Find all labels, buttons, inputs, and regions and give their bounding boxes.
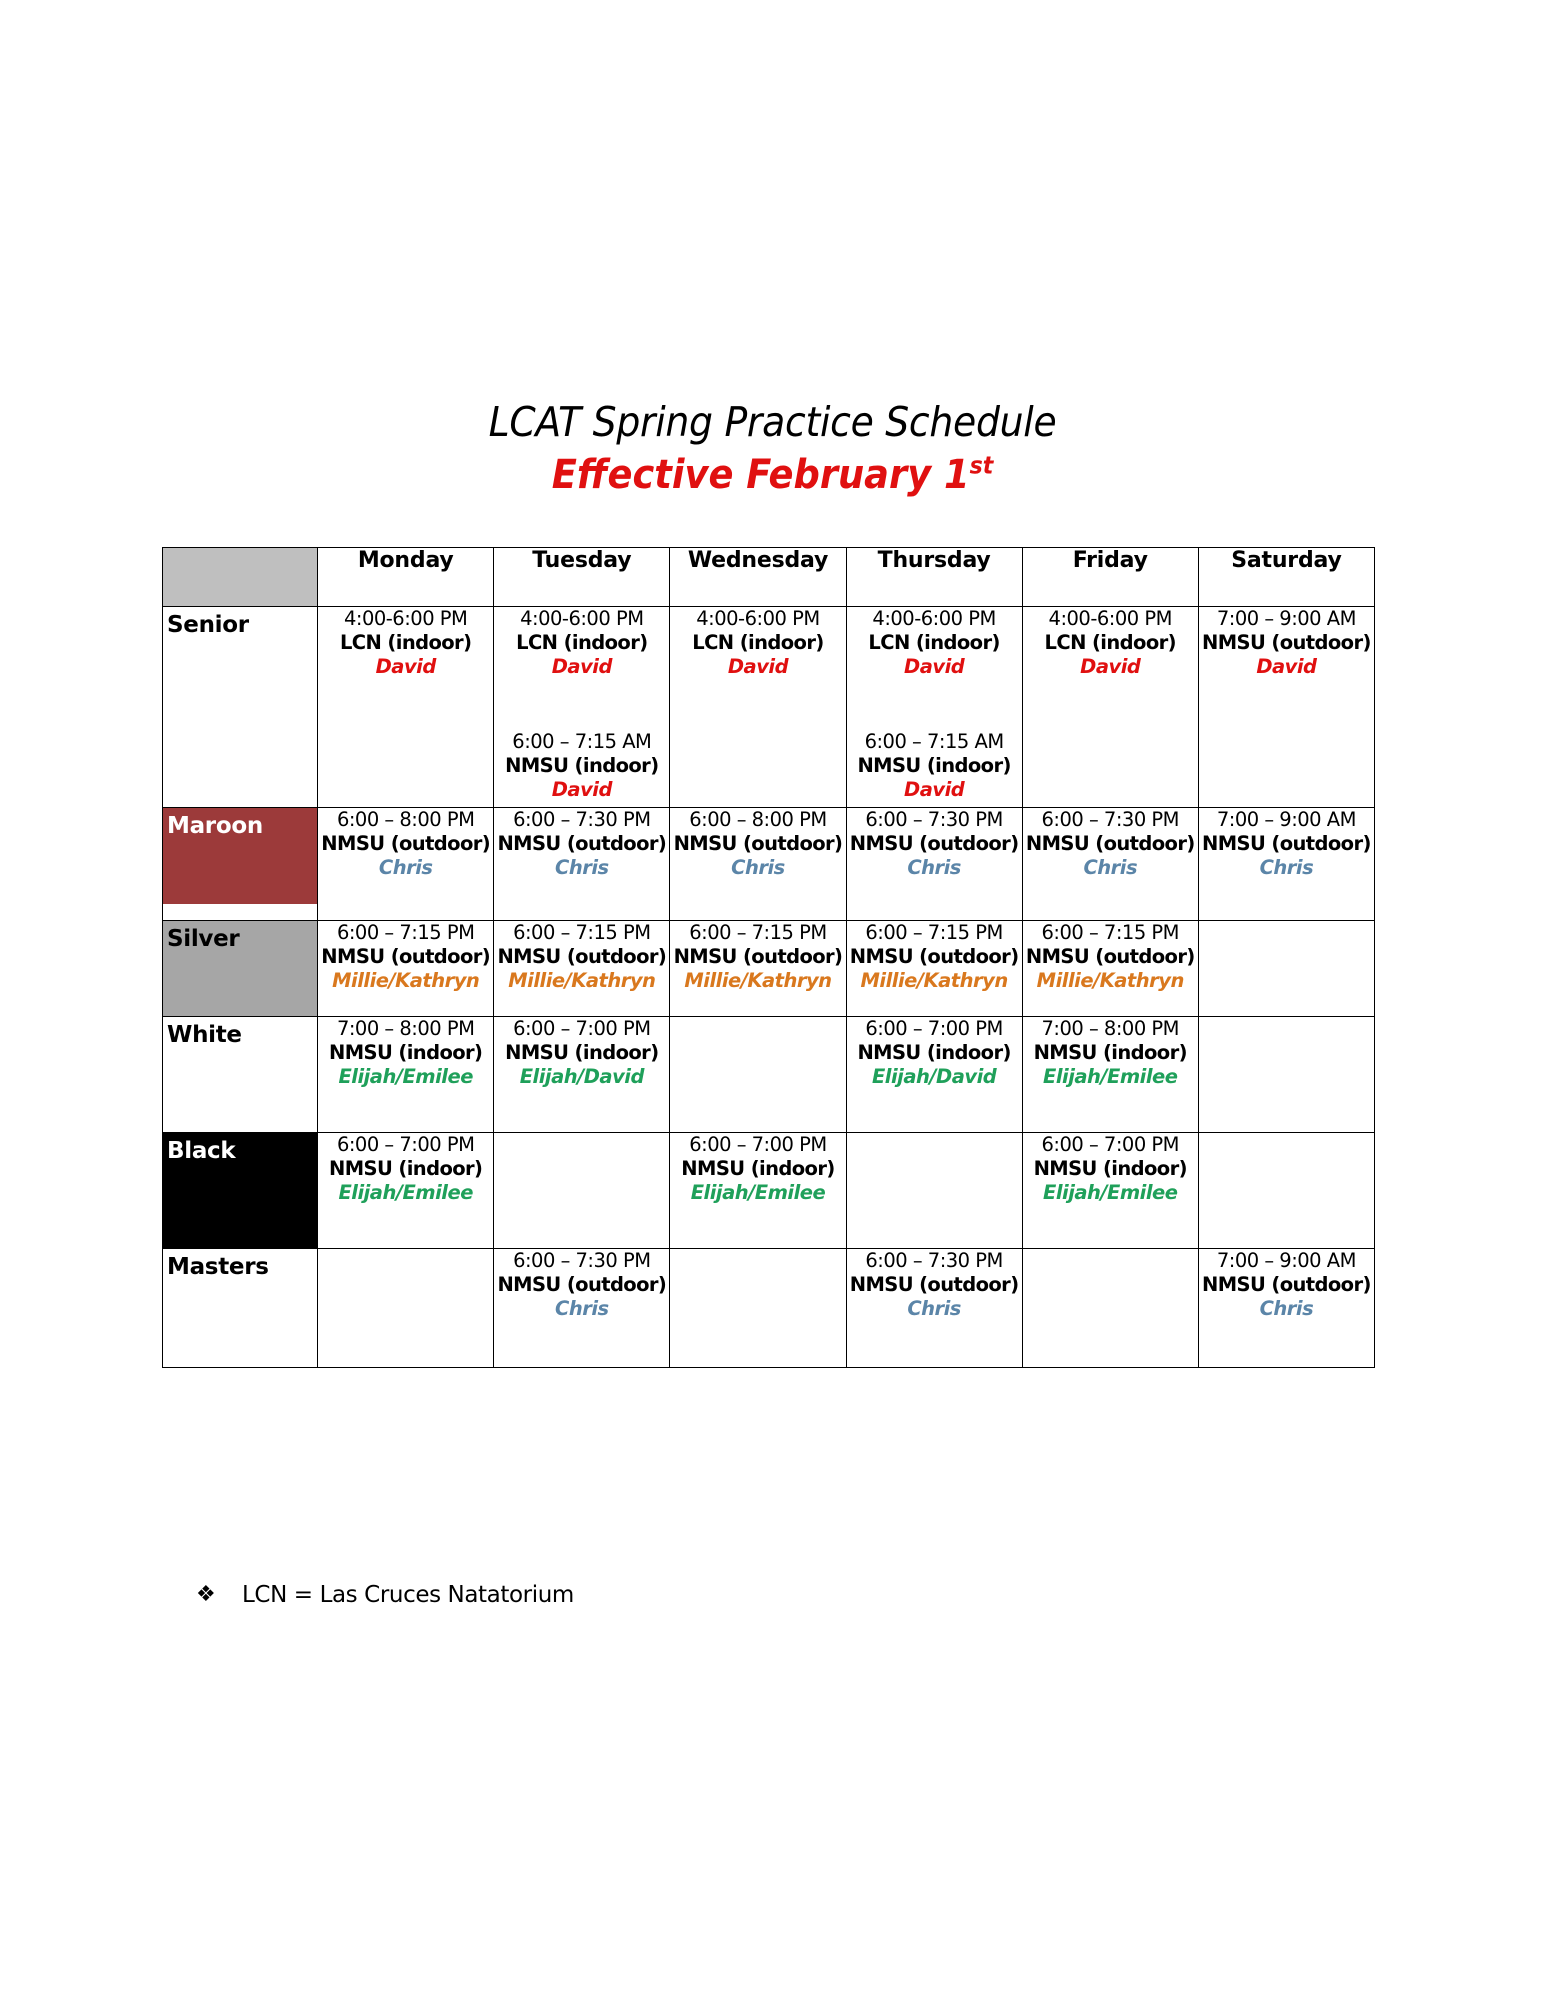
session-coach: Chris	[494, 1297, 669, 1321]
session-time: 6:00 – 7:15 PM	[670, 921, 845, 945]
session-time: 6:00 – 8:00 PM	[670, 808, 845, 832]
session-time: 4:00-6:00 PM	[1023, 607, 1198, 631]
session-coach: David	[494, 655, 669, 679]
group-name: Black	[163, 1133, 317, 1164]
schedule-cell: 4:00-6:00 PMLCN (indoor)David	[670, 607, 846, 808]
practice-session: 6:00 – 7:15 PMNMSU (outdoor)Millie/Kathr…	[318, 921, 493, 992]
practice-session: 6:00 – 7:00 PMNMSU (indoor)Elijah/Emilee	[670, 1133, 845, 1204]
session-coach: David	[494, 778, 669, 802]
schedule-cell: 6:00 – 8:00 PMNMSU (outdoor)Chris	[318, 808, 494, 921]
column-header-monday: Monday	[318, 548, 494, 607]
session-time: 6:00 – 7:30 PM	[494, 808, 669, 832]
schedule-cell: 6:00 – 7:15 PMNMSU (outdoor)Millie/Kathr…	[1022, 921, 1198, 1017]
row-label-masters: Masters	[163, 1249, 318, 1368]
session-time: 4:00-6:00 PM	[670, 607, 845, 631]
schedule-cell: 4:00-6:00 PMLCN (indoor)David6:00 – 7:15…	[494, 607, 670, 808]
session-time: 6:00 – 7:00 PM	[847, 1017, 1022, 1041]
session-coach: Chris	[1199, 856, 1374, 880]
session-coach: Elijah/Emilee	[318, 1181, 493, 1205]
schedule-cell: 4:00-6:00 PMLCN (indoor)David6:00 – 7:15…	[846, 607, 1022, 808]
schedule-cell	[1198, 1017, 1374, 1133]
session-coach: Chris	[494, 856, 669, 880]
session-location: NMSU (outdoor)	[847, 832, 1022, 856]
session-time: 7:00 – 9:00 AM	[1199, 607, 1374, 631]
session-location: NMSU (outdoor)	[1023, 945, 1198, 969]
row-label-silver: Silver	[163, 921, 318, 1017]
practice-session: 7:00 – 9:00 AMNMSU (outdoor)Chris	[1199, 808, 1374, 879]
schedule-cell: 7:00 – 9:00 AMNMSU (outdoor)Chris	[1198, 1249, 1374, 1368]
practice-session: 6:00 – 7:15 PMNMSU (outdoor)Millie/Kathr…	[1023, 921, 1198, 992]
column-header-thursday: Thursday	[846, 548, 1022, 607]
session-coach: Millie/Kathryn	[318, 969, 493, 993]
session-time: 7:00 – 9:00 AM	[1199, 1249, 1374, 1273]
session-coach: Chris	[318, 856, 493, 880]
session-location: NMSU (indoor)	[318, 1157, 493, 1181]
schedule-cell	[318, 1249, 494, 1368]
practice-session: 7:00 – 9:00 AMNMSU (outdoor)Chris	[1199, 1249, 1374, 1320]
session-location: NMSU (outdoor)	[494, 1273, 669, 1297]
table-header: Monday Tuesday Wednesday Thursday Friday…	[163, 548, 1375, 607]
column-header-tuesday: Tuesday	[494, 548, 670, 607]
schedule-cell: 6:00 – 7:15 PMNMSU (outdoor)Millie/Kathr…	[494, 921, 670, 1017]
session-time: 4:00-6:00 PM	[494, 607, 669, 631]
practice-session: 4:00-6:00 PMLCN (indoor)David	[318, 607, 493, 678]
session-location: NMSU (indoor)	[847, 1041, 1022, 1065]
session-coach: Chris	[1023, 856, 1198, 880]
schedule-cell: 7:00 – 9:00 AMNMSU (outdoor)Chris	[1198, 808, 1374, 921]
session-time: 6:00 – 7:15 PM	[318, 921, 493, 945]
session-location: NMSU (outdoor)	[670, 945, 845, 969]
schedule-cell	[846, 1133, 1022, 1249]
schedule-cell: 4:00-6:00 PMLCN (indoor)David	[318, 607, 494, 808]
session-location: LCN (indoor)	[1023, 631, 1198, 655]
practice-session: 6:00 – 7:30 PMNMSU (outdoor)Chris	[1023, 808, 1198, 879]
session-coach: Millie/Kathryn	[494, 969, 669, 993]
column-header-friday: Friday	[1022, 548, 1198, 607]
row-label-senior: Senior	[163, 607, 318, 808]
schedule-cell: 6:00 – 7:30 PMNMSU (outdoor)Chris	[846, 808, 1022, 921]
session-location: NMSU (outdoor)	[318, 832, 493, 856]
table-row: White7:00 – 8:00 PMNMSU (indoor)Elijah/E…	[163, 1017, 1375, 1133]
session-time: 6:00 – 7:30 PM	[1023, 808, 1198, 832]
session-location: NMSU (indoor)	[1023, 1157, 1198, 1181]
effective-date-text: Effective February 1	[552, 452, 970, 498]
table-row: Masters6:00 – 7:30 PMNMSU (outdoor)Chris…	[163, 1249, 1375, 1368]
schedule-cell: 6:00 – 7:00 PMNMSU (indoor)Elijah/David	[846, 1017, 1022, 1133]
session-coach: Chris	[847, 856, 1022, 880]
session-coach: David	[1199, 655, 1374, 679]
session-time: 6:00 – 7:15 AM	[494, 730, 669, 754]
group-name: Silver	[163, 921, 317, 952]
practice-session: 6:00 – 7:30 PMNMSU (outdoor)Chris	[847, 1249, 1022, 1320]
schedule-cell	[1198, 1133, 1374, 1249]
document-page: LCAT Spring Practice Schedule Effective …	[0, 0, 1545, 2000]
session-time: 6:00 – 7:15 PM	[1023, 921, 1198, 945]
session-location: NMSU (outdoor)	[318, 945, 493, 969]
group-name: Masters	[163, 1249, 317, 1280]
schedule-cell: 6:00 – 8:00 PMNMSU (outdoor)Chris	[670, 808, 846, 921]
practice-session: 6:00 – 7:15 PMNMSU (outdoor)Millie/Kathr…	[670, 921, 845, 992]
practice-session: 4:00-6:00 PMLCN (indoor)David	[494, 607, 669, 678]
schedule-cell: 6:00 – 7:15 PMNMSU (outdoor)Millie/Kathr…	[846, 921, 1022, 1017]
schedule-cell: 4:00-6:00 PMLCN (indoor)David	[1022, 607, 1198, 808]
session-coach: Elijah/David	[494, 1065, 669, 1089]
effective-date-ordinal: st	[970, 452, 994, 480]
practice-session: 6:00 – 7:00 PMNMSU (indoor)Elijah/Emilee	[1023, 1133, 1198, 1204]
session-time: 6:00 – 7:00 PM	[1023, 1133, 1198, 1157]
session-time: 6:00 – 8:00 PM	[318, 808, 493, 832]
session-time: 7:00 – 8:00 PM	[1023, 1017, 1198, 1041]
practice-session: 6:00 – 8:00 PMNMSU (outdoor)Chris	[318, 808, 493, 879]
session-time: 6:00 – 7:15 PM	[847, 921, 1022, 945]
session-coach: Millie/Kathryn	[847, 969, 1022, 993]
session-time: 7:00 – 9:00 AM	[1199, 808, 1374, 832]
session-time: 6:00 – 7:15 PM	[494, 921, 669, 945]
practice-session: 6:00 – 7:15 AMNMSU (indoor)David	[847, 730, 1022, 801]
session-coach: Elijah/David	[847, 1065, 1022, 1089]
session-time: 6:00 – 7:00 PM	[670, 1133, 845, 1157]
table-body: Senior4:00-6:00 PMLCN (indoor)David4:00-…	[163, 607, 1375, 1368]
session-coach: Elijah/Emilee	[318, 1065, 493, 1089]
effective-date-subtitle: Effective February 1st	[62, 452, 1483, 499]
session-coach: Elijah/Emilee	[670, 1181, 845, 1205]
practice-session: 6:00 – 7:00 PMNMSU (indoor)Elijah/Emilee	[318, 1133, 493, 1204]
session-time: 6:00 – 7:30 PM	[847, 1249, 1022, 1273]
schedule-cell: 6:00 – 7:15 PMNMSU (outdoor)Millie/Kathr…	[670, 921, 846, 1017]
session-location: NMSU (outdoor)	[847, 1273, 1022, 1297]
session-location: LCN (indoor)	[847, 631, 1022, 655]
session-location: NMSU (indoor)	[1023, 1041, 1198, 1065]
schedule-cell: 6:00 – 7:30 PMNMSU (outdoor)Chris	[846, 1249, 1022, 1368]
session-time: 6:00 – 7:15 AM	[847, 730, 1022, 754]
schedule-cell: 6:00 – 7:00 PMNMSU (indoor)Elijah/Emilee	[670, 1133, 846, 1249]
practice-session: 6:00 – 7:15 AMNMSU (indoor)David	[494, 730, 669, 801]
session-location: NMSU (indoor)	[494, 1041, 669, 1065]
header-corner-cell	[163, 548, 318, 607]
session-time: 4:00-6:00 PM	[847, 607, 1022, 631]
session-coach: Chris	[847, 1297, 1022, 1321]
practice-session: 7:00 – 9:00 AMNMSU (outdoor)David	[1199, 607, 1374, 678]
session-coach: Elijah/Emilee	[1023, 1065, 1198, 1089]
schedule-cell: 6:00 – 7:00 PMNMSU (indoor)Elijah/Emilee	[318, 1133, 494, 1249]
session-location: NMSU (outdoor)	[1023, 832, 1198, 856]
schedule-cell	[494, 1133, 670, 1249]
session-coach: Chris	[670, 856, 845, 880]
practice-session: 6:00 – 7:30 PMNMSU (outdoor)Chris	[847, 808, 1022, 879]
session-location: NMSU (outdoor)	[1199, 631, 1374, 655]
session-time: 6:00 – 7:00 PM	[318, 1133, 493, 1157]
session-coach: David	[847, 655, 1022, 679]
practice-session: 7:00 – 8:00 PMNMSU (indoor)Elijah/Emilee	[1023, 1017, 1198, 1088]
schedule-table-wrapper: Monday Tuesday Wednesday Thursday Friday…	[162, 547, 1375, 1368]
practice-session: 6:00 – 7:30 PMNMSU (outdoor)Chris	[494, 1249, 669, 1320]
practice-session: 6:00 – 8:00 PMNMSU (outdoor)Chris	[670, 808, 845, 879]
session-location: NMSU (outdoor)	[1199, 1273, 1374, 1297]
practice-session: 6:00 – 7:30 PMNMSU (outdoor)Chris	[494, 808, 669, 879]
title-block: LCAT Spring Practice Schedule Effective …	[0, 400, 1545, 499]
group-name: Maroon	[163, 808, 317, 839]
practice-session: 4:00-6:00 PMLCN (indoor)David	[670, 607, 845, 678]
row-label-white: White	[163, 1017, 318, 1133]
session-location: NMSU (outdoor)	[1199, 832, 1374, 856]
diamond-bullet-icon: ❖	[196, 1584, 242, 1606]
practice-session: 6:00 – 7:00 PMNMSU (indoor)Elijah/David	[847, 1017, 1022, 1088]
session-coach: David	[670, 655, 845, 679]
table-row: Silver6:00 – 7:15 PMNMSU (outdoor)Millie…	[163, 921, 1375, 1017]
schedule-cell: 7:00 – 9:00 AMNMSU (outdoor)David	[1198, 607, 1374, 808]
footnote-text: LCN = Las Cruces Natatorium	[242, 1582, 574, 1608]
practice-session: 7:00 – 8:00 PMNMSU (indoor)Elijah/Emilee	[318, 1017, 493, 1088]
session-time: 4:00-6:00 PM	[318, 607, 493, 631]
session-location: NMSU (indoor)	[494, 754, 669, 778]
session-location: NMSU (outdoor)	[494, 832, 669, 856]
session-location: NMSU (indoor)	[318, 1041, 493, 1065]
session-coach: David	[1023, 655, 1198, 679]
session-coach: Elijah/Emilee	[1023, 1181, 1198, 1205]
session-time: 6:00 – 7:00 PM	[494, 1017, 669, 1041]
schedule-cell	[1198, 921, 1374, 1017]
practice-session: 4:00-6:00 PMLCN (indoor)David	[1023, 607, 1198, 678]
practice-session: 6:00 – 7:15 PMNMSU (outdoor)Millie/Kathr…	[847, 921, 1022, 992]
page-title: LCAT Spring Practice Schedule	[62, 400, 1483, 446]
schedule-cell	[1022, 1249, 1198, 1368]
session-location: NMSU (outdoor)	[670, 832, 845, 856]
schedule-cell: 6:00 – 7:30 PMNMSU (outdoor)Chris	[1022, 808, 1198, 921]
session-coach: Chris	[1199, 1297, 1374, 1321]
row-label-black: Black	[163, 1133, 318, 1249]
table-row: Maroon6:00 – 8:00 PMNMSU (outdoor)Chris6…	[163, 808, 1375, 921]
schedule-cell: 6:00 – 7:15 PMNMSU (outdoor)Millie/Kathr…	[318, 921, 494, 1017]
row-label-maroon: Maroon	[163, 808, 318, 921]
schedule-cell: 7:00 – 8:00 PMNMSU (indoor)Elijah/Emilee	[1022, 1017, 1198, 1133]
header-row: Monday Tuesday Wednesday Thursday Friday…	[163, 548, 1375, 607]
session-coach: Millie/Kathryn	[670, 969, 845, 993]
schedule-cell	[670, 1017, 846, 1133]
schedule-cell: 7:00 – 8:00 PMNMSU (indoor)Elijah/Emilee	[318, 1017, 494, 1133]
practice-schedule-table: Monday Tuesday Wednesday Thursday Friday…	[162, 547, 1375, 1368]
schedule-cell: 6:00 – 7:30 PMNMSU (outdoor)Chris	[494, 1249, 670, 1368]
session-location: LCN (indoor)	[318, 631, 493, 655]
practice-session: 6:00 – 7:15 PMNMSU (outdoor)Millie/Kathr…	[494, 921, 669, 992]
session-coach: David	[847, 778, 1022, 802]
footnote: ❖ LCN = Las Cruces Natatorium	[196, 1582, 574, 1608]
table-row: Senior4:00-6:00 PMLCN (indoor)David4:00-…	[163, 607, 1375, 808]
session-time: 7:00 – 8:00 PM	[318, 1017, 493, 1041]
session-location: NMSU (outdoor)	[847, 945, 1022, 969]
session-time: 6:00 – 7:30 PM	[494, 1249, 669, 1273]
group-name: White	[163, 1017, 317, 1048]
column-header-saturday: Saturday	[1198, 548, 1374, 607]
group-name: Senior	[163, 607, 317, 638]
session-location: LCN (indoor)	[670, 631, 845, 655]
schedule-cell	[670, 1249, 846, 1368]
schedule-cell: 6:00 – 7:30 PMNMSU (outdoor)Chris	[494, 808, 670, 921]
table-row: Black6:00 – 7:00 PMNMSU (indoor)Elijah/E…	[163, 1133, 1375, 1249]
session-location: NMSU (indoor)	[670, 1157, 845, 1181]
practice-session: 6:00 – 7:00 PMNMSU (indoor)Elijah/David	[494, 1017, 669, 1088]
session-location: NMSU (outdoor)	[494, 945, 669, 969]
practice-session: 4:00-6:00 PMLCN (indoor)David	[847, 607, 1022, 678]
column-header-wednesday: Wednesday	[670, 548, 846, 607]
schedule-cell: 6:00 – 7:00 PMNMSU (indoor)Elijah/David	[494, 1017, 670, 1133]
session-location: LCN (indoor)	[494, 631, 669, 655]
schedule-cell: 6:00 – 7:00 PMNMSU (indoor)Elijah/Emilee	[1022, 1133, 1198, 1249]
session-location: NMSU (indoor)	[847, 754, 1022, 778]
session-coach: Millie/Kathryn	[1023, 969, 1198, 993]
session-coach: David	[318, 655, 493, 679]
session-time: 6:00 – 7:30 PM	[847, 808, 1022, 832]
